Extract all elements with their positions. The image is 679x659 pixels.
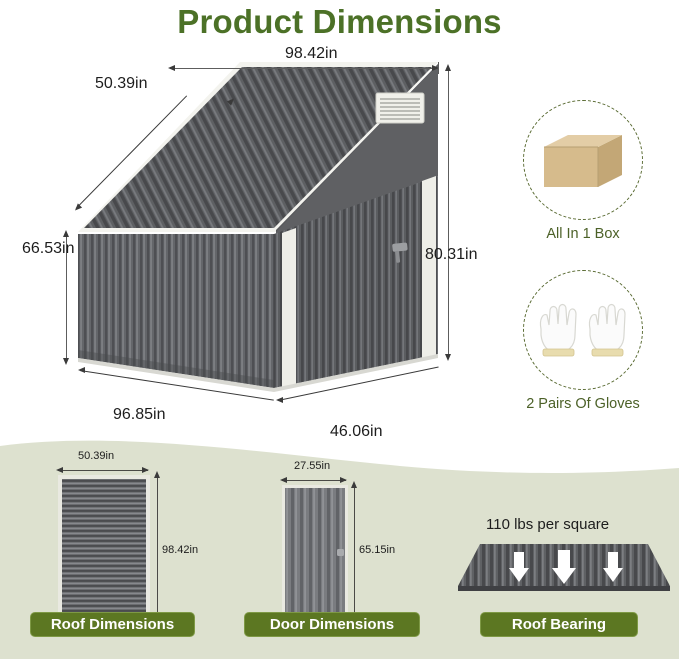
pill-roof-bearing[interactable]: Roof Bearing — [480, 612, 638, 637]
roof-height-arrow-up — [154, 471, 160, 478]
door-height-arrow-up — [351, 481, 357, 488]
door-width-line — [282, 480, 346, 481]
dim-top-width: 98.42in — [285, 45, 338, 63]
feature-gloves: 2 Pairs Of Gloves — [518, 270, 648, 412]
pill-roof-dimensions[interactable]: Roof Dimensions — [30, 612, 195, 637]
roof-bearing-icon — [458, 540, 670, 600]
roof-width-line — [58, 470, 148, 471]
arrow-left-top — [168, 65, 175, 71]
door-handle-small-icon — [337, 549, 344, 556]
infographic-root: Product Dimensions — [0, 0, 679, 659]
roof-bearing-load-label: 110 lbs per square — [486, 516, 609, 533]
page-title: Product Dimensions — [0, 0, 679, 46]
dim-right-height: 80.31in — [425, 246, 478, 264]
roof-width-label: 50.39in — [78, 450, 114, 462]
card-roof-dimensions: 50.39in 98.42in Roof Dimensions — [0, 432, 226, 659]
dim-roof-slope: 50.39in — [95, 75, 148, 93]
door-width-arrow-right — [340, 477, 347, 483]
door-width-arrow-left — [280, 477, 287, 483]
feature-caption-box: All In 1 Box — [518, 226, 648, 242]
feature-caption-gloves: 2 Pairs Of Gloves — [518, 396, 648, 412]
ext-line-top-right — [438, 62, 439, 74]
feature-all-in-one-box: All In 1 Box — [518, 100, 648, 242]
card-door-dimensions: 27.55in 65.15in Door Di — [226, 432, 452, 659]
door-panel-icon — [282, 485, 348, 622]
dim-line-top-width — [170, 68, 438, 69]
door-height-line — [354, 485, 355, 622]
feature-circle-gloves — [523, 270, 643, 390]
roof-width-arrow-right — [142, 467, 149, 473]
cardboard-box-icon — [540, 127, 626, 193]
arrow-down-right — [445, 354, 451, 361]
roof-height-line — [157, 475, 158, 628]
shed-graphic — [70, 58, 450, 430]
pill-door-dimensions[interactable]: Door Dimensions — [244, 612, 420, 637]
roof-height-label: 98.42in — [162, 544, 198, 556]
door-height-label: 65.15in — [359, 544, 395, 556]
arrow-up-right — [445, 64, 451, 71]
roof-width-arrow-left — [56, 467, 63, 473]
bottom-band: 50.39in 98.42in Roof Dimensions — [0, 432, 679, 659]
arrow-depth-left — [276, 397, 283, 403]
dim-line-right-height — [448, 68, 449, 358]
work-gloves-icon — [535, 299, 631, 361]
arrow-down-left — [63, 358, 69, 365]
dim-base-length: 96.85in — [113, 406, 166, 424]
dim-left-height: 66.53in — [22, 240, 75, 258]
arrow-up-left — [63, 230, 69, 237]
shed-illustration — [70, 58, 450, 428]
arrow-base-left — [78, 367, 85, 373]
door-width-label: 27.55in — [294, 460, 330, 472]
card-roof-bearing: 110 lbs per square Roof Bearin — [452, 432, 679, 659]
roof-panel-icon — [58, 475, 150, 628]
feature-circle-box — [523, 100, 643, 220]
vent-grille-icon — [376, 93, 424, 123]
